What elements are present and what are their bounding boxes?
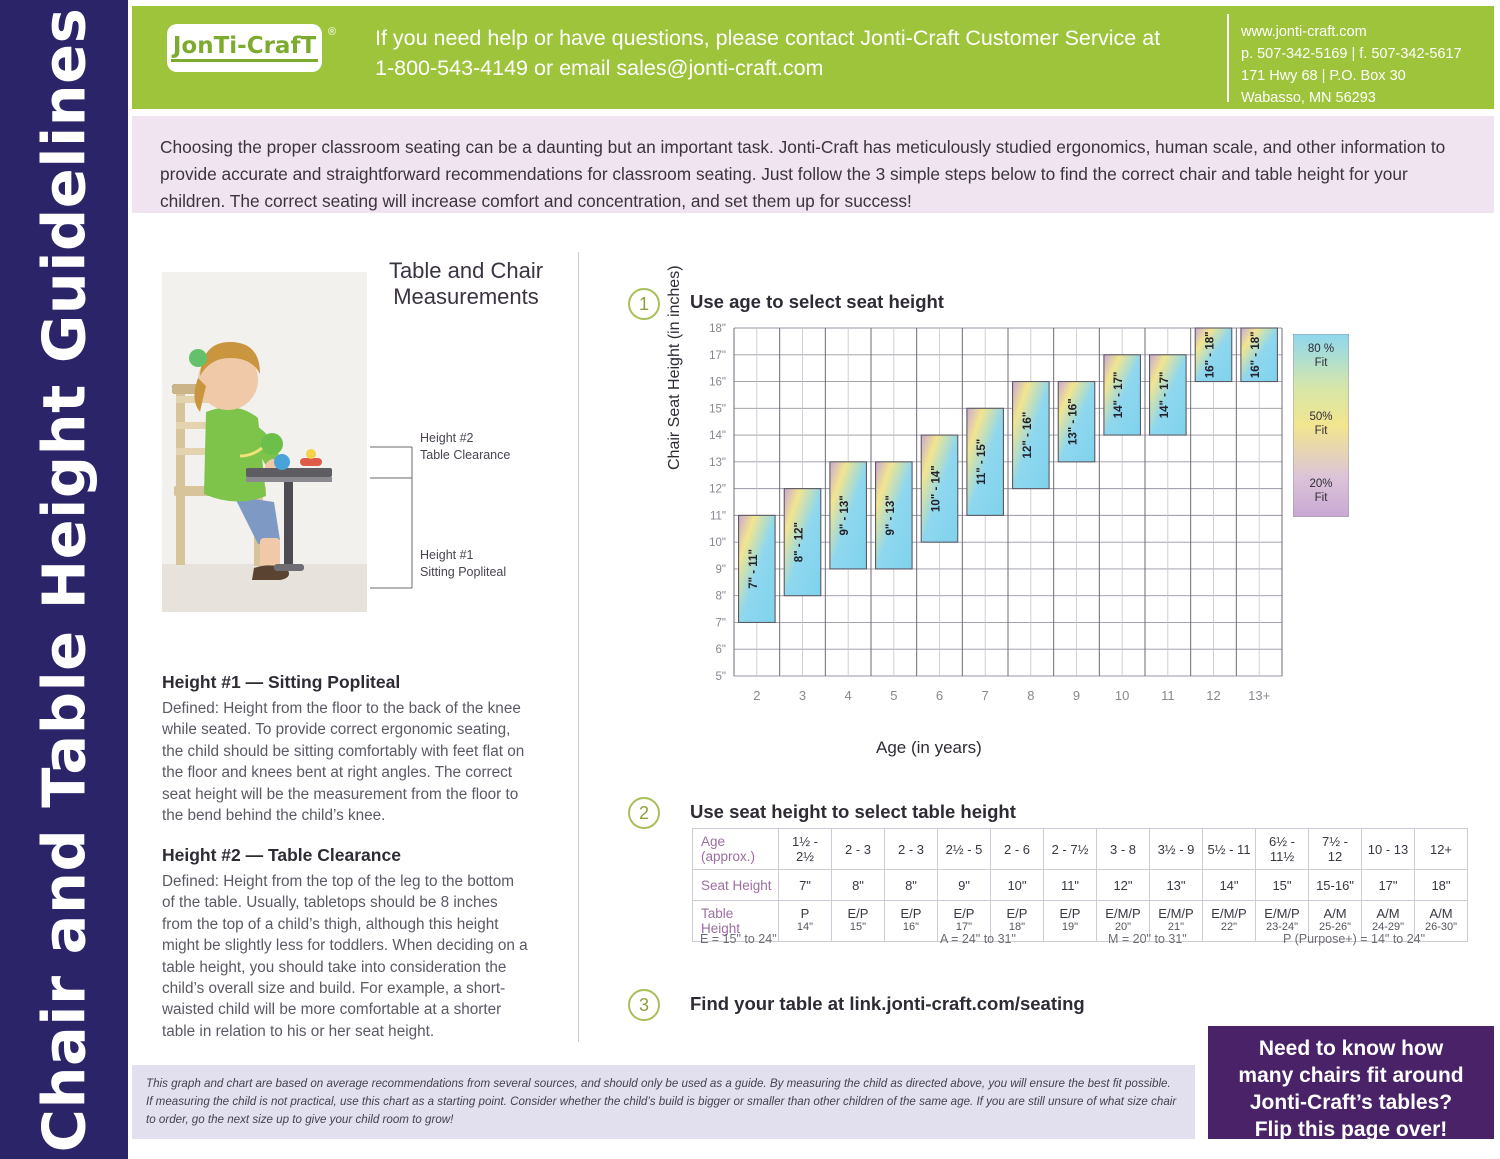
table-cell: 15-16"	[1309, 870, 1362, 901]
table-cell: 2½ - 5	[938, 829, 991, 870]
svg-text:7": 7"	[716, 617, 726, 629]
table-cell: E/P19"	[1044, 901, 1097, 942]
svg-text:3: 3	[799, 688, 806, 703]
contact-address-line2: Wabasso, MN 56293	[1241, 87, 1495, 109]
table-cell-inches: 16"	[889, 921, 933, 935]
chart-x-axis-label: Age (in years)	[876, 738, 982, 758]
section-height-1-heading: Height #1 — Sitting Popliteal	[162, 672, 530, 693]
table-cell: 10 - 13	[1362, 829, 1415, 870]
svg-text:11": 11"	[710, 510, 726, 522]
table-key-item: P (Purpose+) = 14" to 24"	[1283, 932, 1425, 946]
fit-percentage-key: 80 % Fit 50% Fit 20% Fit	[1293, 334, 1349, 517]
section-height-2-heading: Height #2 — Table Clearance	[162, 845, 530, 866]
page-root: Chair and Table Height Guidelines JonTi-…	[0, 0, 1500, 1159]
header-contact-block: www.jonti-craft.com p. 507-342-5169 | f.…	[1227, 14, 1495, 102]
page-title: Chair and Table Height Guidelines	[30, 7, 99, 1152]
vertical-divider	[578, 252, 579, 1042]
svg-text:14" - 17": 14" - 17"	[1113, 372, 1125, 419]
table-cell: 18"	[1415, 870, 1468, 901]
table-cell: 5½ - 11	[1203, 829, 1256, 870]
table-cell-code: E/P	[1048, 907, 1092, 921]
footer-disclaimer-text: This graph and chart are based on averag…	[146, 1075, 1179, 1129]
table-key-item: M = 20" to 31"	[1108, 932, 1187, 946]
svg-text:5": 5"	[716, 671, 726, 683]
table-cell: 11"	[1044, 870, 1097, 901]
svg-text:12" - 16": 12" - 16"	[1022, 412, 1034, 459]
svg-text:16": 16"	[709, 377, 726, 389]
callout-height-1: Height #1 Sitting Popliteal	[420, 547, 506, 580]
table-cell: E/M/P22"	[1203, 901, 1256, 942]
logo-text: JonTi-CrafT	[171, 34, 318, 62]
table-cell-code: A/M	[1366, 907, 1410, 921]
table-cell-code: E/P	[995, 907, 1039, 921]
header-band: JonTi-CrafT ® If you need help or have q…	[132, 6, 1494, 109]
flip-line-4: Flip this page over!	[1208, 1117, 1494, 1144]
table-cell-code: E/P	[836, 907, 880, 921]
svg-text:7: 7	[982, 688, 989, 703]
table-cell-inches: 22"	[1207, 921, 1251, 935]
svg-text:7" - 11": 7" - 11"	[748, 549, 760, 589]
section-height-1-body: Defined: Height from the floor to the ba…	[162, 698, 530, 826]
section-height-2: Height #2 — Table Clearance Defined: Hei…	[162, 845, 530, 1042]
svg-text:15": 15"	[709, 403, 726, 415]
svg-text:11" - 15": 11" - 15"	[976, 439, 988, 485]
table-cell: 8"	[885, 870, 938, 901]
section-height-2-body: Defined: Height from the top of the leg …	[162, 871, 530, 1042]
table-cell-code: E/M/P	[1101, 907, 1145, 921]
table-cell-inches: 26-30"	[1419, 921, 1463, 935]
flip-line-3: Jonti-Craft’s tables?	[1208, 1090, 1494, 1117]
table-cell: 13"	[1150, 870, 1203, 901]
svg-text:2: 2	[753, 688, 760, 703]
svg-text:8: 8	[1027, 688, 1034, 703]
key-20-value: 20%	[1293, 477, 1349, 491]
svg-text:18": 18"	[709, 323, 726, 335]
measurements-title: Table and Chair Measurements	[366, 258, 566, 311]
table-cell: 12"	[1097, 870, 1150, 901]
table-cell-code: E/P	[942, 907, 986, 921]
table-cell: 10"	[991, 870, 1044, 901]
step-2-title: Use seat height to select table height	[690, 801, 1016, 823]
table-cell: 15"	[1256, 870, 1309, 901]
key-50-fit: Fit	[1293, 424, 1349, 438]
table-cell: 8"	[832, 870, 885, 901]
registered-trademark-icon: ®	[328, 26, 336, 38]
svg-text:14" - 17": 14" - 17"	[1159, 372, 1171, 419]
callout-height-1-line2: Sitting Popliteal	[420, 564, 506, 581]
flip-page-callout[interactable]: Need to know how many chairs fit around …	[1208, 1026, 1494, 1139]
table-row: Age (approx.)1½ - 2½2 - 32 - 32½ - 52 - …	[693, 829, 1468, 870]
contact-website[interactable]: www.jonti-craft.com	[1241, 21, 1495, 43]
table-cell: 2 - 7½	[1044, 829, 1097, 870]
svg-text:13+: 13+	[1248, 688, 1270, 703]
svg-text:10": 10"	[709, 537, 726, 549]
table-cell: 2 - 3	[885, 829, 938, 870]
contact-phones: p. 507-342-5169 | f. 507-342-5617	[1241, 43, 1495, 65]
header-help-message: If you need help or have questions, plea…	[375, 24, 1175, 83]
key-20-fit: Fit	[1293, 491, 1349, 505]
measurements-title-line1: Table and Chair	[389, 258, 543, 283]
svg-text:17": 17"	[709, 350, 726, 362]
svg-text:16" - 18": 16" - 18"	[1250, 331, 1262, 378]
seat-table-height-table: Age (approx.)1½ - 2½2 - 32 - 32½ - 52 - …	[692, 828, 1468, 942]
svg-text:16" - 18": 16" - 18"	[1205, 331, 1217, 378]
table-cell: P14"	[779, 901, 832, 942]
svg-text:9: 9	[1073, 688, 1080, 703]
svg-text:9" - 13": 9" - 13"	[885, 495, 897, 535]
table-cell-inches: 14"	[783, 921, 827, 935]
key-80-fit: Fit	[1293, 356, 1349, 370]
table-cell: 6½ - 11½	[1256, 829, 1309, 870]
svg-text:12: 12	[1206, 688, 1220, 703]
key-80-percent: 80 % Fit	[1293, 342, 1349, 371]
table-cell: 12+	[1415, 829, 1468, 870]
section-height-1: Height #1 — Sitting Popliteal Defined: H…	[162, 672, 530, 826]
table-cell-code: E/M/P	[1154, 907, 1198, 921]
svg-text:9": 9"	[716, 564, 726, 576]
table-row-header: Age (approx.)	[693, 829, 779, 870]
svg-text:8": 8"	[716, 591, 726, 603]
table-cell-code: E/M/P	[1207, 907, 1251, 921]
sidebar-title-bar: Chair and Table Height Guidelines	[0, 0, 128, 1159]
table-cell: 7½ - 12	[1309, 829, 1362, 870]
table-cell: 3 - 8	[1097, 829, 1150, 870]
table-cell: 2 - 3	[832, 829, 885, 870]
svg-text:10: 10	[1115, 688, 1129, 703]
table-cell: 7"	[779, 870, 832, 901]
flip-line-2: many chairs fit around	[1208, 1063, 1494, 1090]
table-cell: 3½ - 9	[1150, 829, 1203, 870]
callout-height-2: Height #2 Table Clearance	[420, 430, 510, 463]
key-20-percent: 20% Fit	[1293, 477, 1349, 506]
key-80-value: 80 %	[1293, 342, 1349, 356]
svg-text:9" - 13": 9" - 13"	[839, 495, 851, 535]
table-row: Seat Height7"8"8"9"10"11"12"13"14"15"15-…	[693, 870, 1468, 901]
table-cell: 14"	[1203, 870, 1256, 901]
table-cell-code: E/P	[889, 907, 933, 921]
svg-text:5: 5	[890, 688, 897, 703]
svg-text:13": 13"	[709, 457, 726, 469]
svg-text:10" - 14": 10" - 14"	[931, 465, 943, 512]
measurements-title-line2: Measurements	[366, 284, 566, 310]
svg-text:8" - 12": 8" - 12"	[794, 522, 806, 562]
contact-address-line1: 171 Hwy 68 | P.O. Box 30	[1241, 65, 1495, 87]
table-cell-inches: 15"	[836, 921, 880, 935]
key-50-value: 50%	[1293, 410, 1349, 424]
step-3-number-badge: 3	[628, 989, 660, 1021]
svg-text:4: 4	[845, 688, 852, 703]
child-at-table-photo	[162, 272, 367, 612]
step-1-number-badge: 1	[628, 288, 660, 320]
svg-text:13" - 16": 13" - 16"	[1068, 398, 1080, 445]
jonti-craft-logo[interactable]: JonTi-CrafT	[167, 24, 322, 72]
table-cell-code: A/M	[1313, 907, 1357, 921]
svg-text:11: 11	[1161, 688, 1175, 703]
table-cell-code: A/M	[1419, 907, 1463, 921]
callout-height-2-line2: Table Clearance	[420, 447, 510, 464]
callout-height-1-line1: Height #1	[420, 547, 506, 564]
table-cell: 2 - 6	[991, 829, 1044, 870]
flip-line-1: Need to know how	[1208, 1036, 1494, 1063]
svg-text:14": 14"	[709, 430, 726, 442]
table-row-header: Seat Height	[693, 870, 779, 901]
table-cell-code: P	[783, 907, 827, 921]
callout-height-2-line1: Height #2	[420, 430, 510, 447]
seat-height-chart: Chair Seat Height (in inches) Age (in ye…	[676, 320, 1376, 760]
table-cell: E/P15"	[832, 901, 885, 942]
footer-disclaimer: This graph and chart are based on averag…	[132, 1065, 1195, 1139]
table-cell: 9"	[938, 870, 991, 901]
table-cell: 17"	[1362, 870, 1415, 901]
svg-text:12": 12"	[709, 484, 726, 496]
step-1-title: Use age to select seat height	[690, 291, 944, 313]
key-50-percent: 50% Fit	[1293, 410, 1349, 439]
svg-text:6: 6	[936, 688, 943, 703]
step-3-title[interactable]: Find your table at link.jonti-craft.com/…	[690, 993, 1085, 1015]
table-key-item: E = 15" to 24"	[700, 932, 777, 946]
table-key-item: A = 24" to 31"	[940, 932, 1016, 946]
table-cell: 1½ - 2½	[779, 829, 832, 870]
step-2-number-badge: 2	[628, 797, 660, 829]
table-cell-code: E/M/P	[1260, 907, 1304, 921]
table-cell-inches: 19"	[1048, 921, 1092, 935]
svg-text:6": 6"	[716, 644, 726, 656]
intro-band: Choosing the proper classroom seating ca…	[132, 116, 1494, 213]
chart-plot-area: 5"6"7"8"9"10"11"12"13"14"15"16"17"18"7" …	[676, 320, 1296, 730]
intro-text: Choosing the proper classroom seating ca…	[160, 134, 1460, 214]
table-cell: E/P16"	[885, 901, 938, 942]
